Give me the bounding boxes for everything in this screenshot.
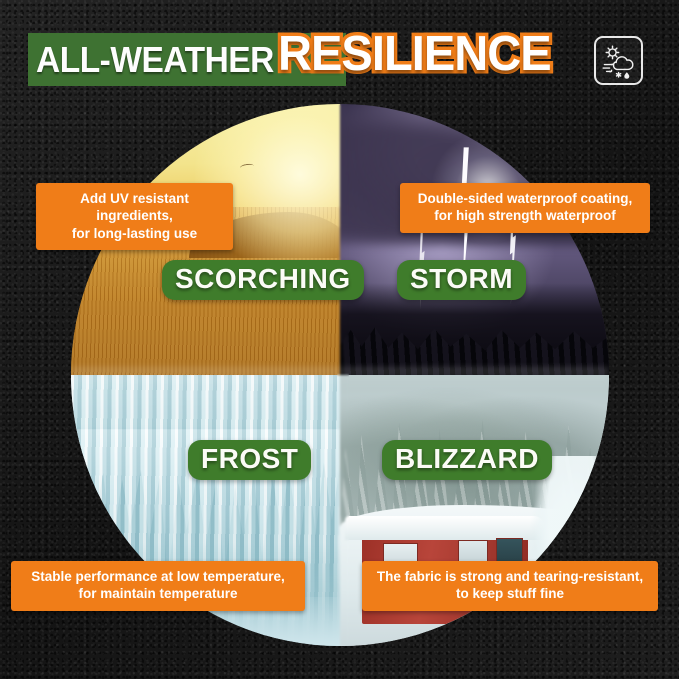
caption-line-2: for long-lasting use bbox=[46, 225, 223, 242]
caption-line-1: Add UV resistant ingredients, bbox=[46, 190, 223, 225]
caption-line-1: Double-sided waterproof coating, bbox=[410, 190, 640, 207]
page-title-secondary: RESILIENCE bbox=[278, 26, 551, 82]
label-storm: STORM bbox=[397, 260, 526, 300]
caption-line-1: Stable performance at low temperature, bbox=[21, 568, 295, 585]
caption-line-2: for high strength waterproof bbox=[410, 207, 640, 224]
caption-line-1: The fabric is strong and tearing-resista… bbox=[372, 568, 648, 585]
caption-uv-resistant: Add UV resistant ingredients, for long-l… bbox=[36, 183, 233, 250]
label-scorching: SCORCHING bbox=[162, 260, 364, 300]
page-title-primary: ALL-WEATHER bbox=[36, 39, 274, 81]
label-blizzard: BLIZZARD bbox=[382, 440, 552, 480]
caption-line-2: to keep stuff fine bbox=[372, 585, 648, 602]
weather-mixed-icon bbox=[594, 36, 643, 85]
caption-line-2: for maintain temperature bbox=[21, 585, 295, 602]
caption-tearing-resistant: The fabric is strong and tearing-resista… bbox=[362, 561, 658, 611]
caption-low-temperature: Stable performance at low temperature, f… bbox=[11, 561, 305, 611]
caption-waterproof-coating: Double-sided waterproof coating, for hig… bbox=[400, 183, 650, 233]
label-frost: FROST bbox=[188, 440, 311, 480]
scene-storm bbox=[340, 104, 609, 375]
